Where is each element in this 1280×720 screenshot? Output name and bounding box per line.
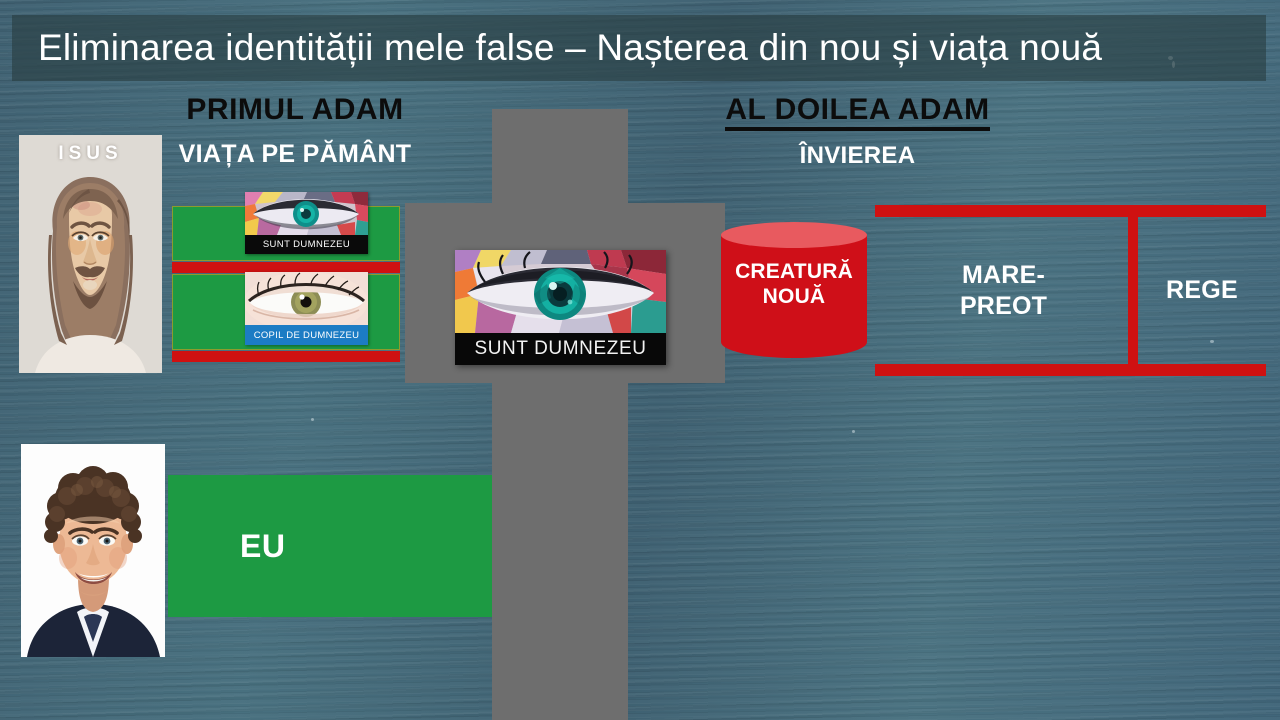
king-label: REGE xyxy=(1166,276,1238,305)
frame-divider xyxy=(1128,217,1138,364)
high-priest-label: MARE- PREOT xyxy=(956,260,1047,321)
eye-card-sunt-dumnezeu-small: SUNT DUMNEZEU xyxy=(245,192,368,254)
cylinder-label-line-2: NOUĂ xyxy=(721,285,867,310)
red-separator-2 xyxy=(172,351,400,362)
cell-high-priest: MARE- PREOT xyxy=(875,217,1128,364)
heading-second-adam: AL DOILEA ADAM xyxy=(680,93,1035,127)
new-creature-cylinder: CREATURĂ NOUĂ xyxy=(721,222,867,370)
jesus-portrait-image xyxy=(19,135,162,373)
mosaic-eye-large-icon xyxy=(455,250,666,333)
slide-canvas: Eliminarea identității mele false – Nașt… xyxy=(0,0,1280,720)
background-speck xyxy=(311,418,314,421)
eu-green-box: EU xyxy=(168,475,492,617)
title-band: Eliminarea identității mele false – Nașt… xyxy=(12,15,1266,81)
human-eye-icon xyxy=(245,272,368,325)
frame-top-bar xyxy=(875,205,1266,217)
jesus-portrait-card: ISUS xyxy=(19,135,162,373)
person-photo-image xyxy=(21,444,165,657)
background-speck xyxy=(852,430,855,433)
heading-first-adam: PRIMUL ADAM xyxy=(150,93,440,127)
cylinder-top-ellipse xyxy=(721,222,867,248)
subheading-life-on-earth: VIAȚA PE PĂMÂNT xyxy=(150,140,440,169)
high-priest-label-line-2: PREOT xyxy=(960,291,1047,322)
eye-caption-copil-de-dumnezeu: COPIL DE DUMNEZEU xyxy=(245,325,368,345)
page-title: Eliminarea identității mele false – Nașt… xyxy=(38,27,1102,69)
subheading-resurrection: ÎNVIEREA xyxy=(680,142,1035,170)
roles-frame: MARE- PREOT REGE xyxy=(875,205,1266,376)
person-photo-card xyxy=(21,444,165,657)
cross-vertical-beam xyxy=(492,109,628,720)
eye-card-sunt-dumnezeu-large: SUNT DUMNEZEU xyxy=(455,250,666,365)
cell-king: REGE xyxy=(1138,217,1266,364)
mosaic-eye-icon xyxy=(245,192,368,235)
jesus-portrait-label: ISUS xyxy=(19,143,162,165)
eu-label: EU xyxy=(240,528,285,565)
eye-caption-sunt-dumnezeu-small: SUNT DUMNEZEU xyxy=(245,235,368,254)
eye-caption-sunt-dumnezeu-large: SUNT DUMNEZEU xyxy=(455,333,666,365)
cylinder-label: CREATURĂ NOUĂ xyxy=(721,260,867,310)
cylinder-label-line-1: CREATURĂ xyxy=(721,260,867,285)
eye-card-copil-de-dumnezeu: COPIL DE DUMNEZEU xyxy=(245,272,368,345)
heading-second-adam-text: AL DOILEA ADAM xyxy=(725,93,989,131)
high-priest-label-line-1: MARE- xyxy=(960,260,1047,291)
frame-bottom-bar xyxy=(875,364,1266,376)
